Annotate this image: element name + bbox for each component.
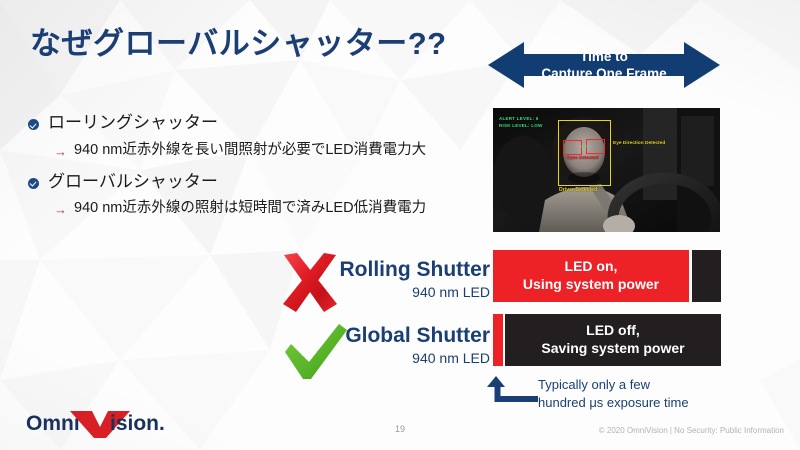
slide-canvas: なぜグローバルシャッター?? ローリングシャッター → 940 nm近赤外線を長… xyxy=(0,0,800,450)
exposure-callout-text: Typically only a few hundred μs exposure… xyxy=(538,376,689,412)
led-off-segment: LED off, Saving system power xyxy=(505,314,721,366)
eye-direction-label: Eye Direction Detected xyxy=(613,141,665,146)
list-item-sub: → 940 nm近赤外線の照射は短時間で済みLED低消費電力 xyxy=(54,199,478,219)
led-on-line-2: Using system power xyxy=(523,276,659,292)
list-item-sub: → 940 nm近赤外線を長い間照射が必要でLED消費電力大 xyxy=(54,141,478,161)
copyright-text: © 2020 OmniVision | No Security: Public … xyxy=(599,426,784,435)
elbow-arrow-up-icon xyxy=(486,374,546,414)
global-exposure-segment xyxy=(493,314,503,366)
rolling-idle-segment xyxy=(692,250,721,302)
photo-status-overlay: ALERT LEVEL: 5 RISK LEVEL: LOW xyxy=(499,115,543,129)
check-bullet-icon xyxy=(28,119,39,130)
arrow-right-icon: → xyxy=(54,145,67,158)
arrow-right-icon: → xyxy=(54,203,67,216)
callout-line-1: Typically only a few xyxy=(538,376,689,394)
alert-level-text: ALERT LEVEL: 5 xyxy=(499,115,543,122)
rolling-shutter-label: Rolling Shutter 940 nm LED xyxy=(240,258,490,301)
global-shutter-subtitle: 940 nm LED xyxy=(240,349,490,367)
led-off-line-2: Saving system power xyxy=(541,340,684,356)
list-item: グローバルシャッター xyxy=(28,171,478,194)
bullet-list: ローリングシャッター → 940 nm近赤外線を長い間照射が必要でLED消費電力… xyxy=(28,112,478,229)
eye-bounding-box-left xyxy=(563,140,582,155)
global-shutter-title: Global Shutter xyxy=(240,324,490,348)
gaze-line xyxy=(581,146,589,147)
led-on-line-1: LED on, xyxy=(565,258,618,274)
callout-line-2: hundred μs exposure time xyxy=(538,394,689,412)
page-title: なぜグローバルシャッター?? xyxy=(30,18,447,63)
led-on-segment: LED on, Using system power xyxy=(493,250,689,302)
bullet-sub-label: 940 nm近赤外線を長い間照射が必要でLED消費電力大 xyxy=(74,141,426,161)
banner-text: Time to Capture One Frame xyxy=(488,40,720,90)
check-bullet-icon xyxy=(28,178,39,189)
exposure-callout: Typically only a few hundred μs exposure… xyxy=(486,374,726,420)
global-shutter-timing-row: LED off, Saving system power xyxy=(490,314,722,366)
eyes-detected-label: Eyes Detected xyxy=(567,155,598,160)
bullet-label: グローバルシャッター xyxy=(48,171,218,194)
led-off-text: LED off, Saving system power xyxy=(535,322,690,358)
time-to-capture-banner: Time to Capture One Frame xyxy=(488,40,720,90)
driver-monitoring-image: ALERT LEVEL: 5 RISK LEVEL: LOW Eye Direc… xyxy=(493,108,720,232)
rolling-shutter-title: Rolling Shutter xyxy=(240,258,490,282)
bullet-sub-label: 940 nm近赤外線の照射は短時間で済みLED低消費電力 xyxy=(74,199,426,219)
rolling-shutter-subtitle: 940 nm LED xyxy=(240,283,490,301)
banner-line-2: Capture One Frame xyxy=(541,65,666,82)
rolling-shutter-timing-row: LED on, Using system power xyxy=(490,250,722,302)
global-shutter-label: Global Shutter 940 nm LED xyxy=(240,324,490,367)
banner-line-1: Time to xyxy=(580,48,628,65)
driver-detected-label: Driver Detected xyxy=(559,187,597,193)
timing-bars: LED on, Using system power LED off, Savi… xyxy=(490,250,722,366)
risk-level-text: RISK LEVEL: LOW xyxy=(499,122,543,129)
led-off-line-1: LED off, xyxy=(586,322,640,338)
list-item: ローリングシャッター xyxy=(28,112,478,135)
led-on-text: LED on, Using system power xyxy=(517,258,665,294)
bullet-label: ローリングシャッター xyxy=(48,112,218,135)
